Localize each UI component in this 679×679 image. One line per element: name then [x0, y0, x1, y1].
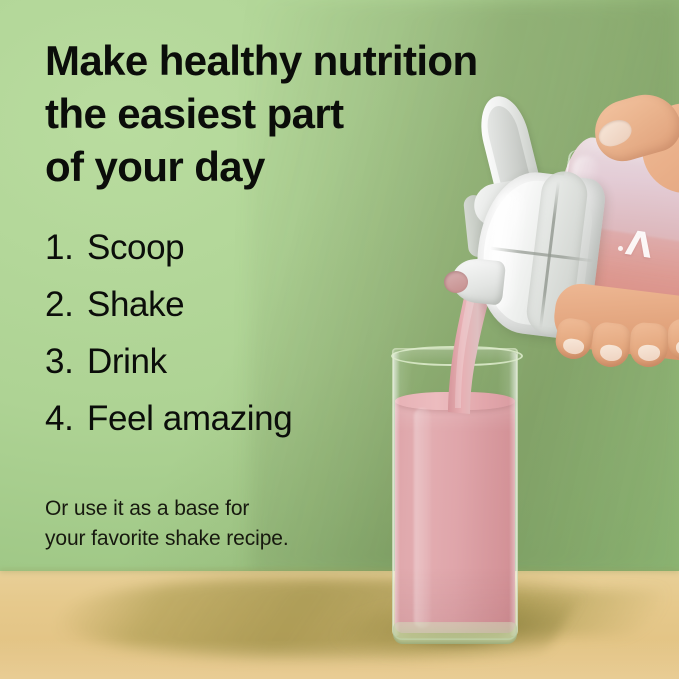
- list-item: 3. Drink: [45, 342, 465, 399]
- subtext-block: Or use it as a base for your favorite sh…: [45, 494, 375, 554]
- step-number: 1.: [45, 228, 87, 268]
- headline-line-3: of your day: [45, 140, 605, 193]
- bottle-logo-dot-icon: [618, 246, 623, 251]
- step-label: Drink: [87, 342, 167, 382]
- subtext-line-1: Or use it as a base for: [45, 494, 375, 524]
- step-label: Shake: [87, 285, 184, 325]
- headline-line-2: the easiest part: [45, 87, 605, 140]
- page-headline: Make healthy nutrition the easiest part …: [45, 34, 605, 193]
- step-number: 3.: [45, 342, 87, 382]
- steps-list: 1. Scoop 2. Shake 3. Drink 4. Feel amazi…: [45, 228, 465, 456]
- step-number: 4.: [45, 399, 87, 439]
- table-back-edge: [0, 569, 679, 574]
- ad-image-canvas: Λ Make healthy nutrition the easiest par…: [0, 0, 679, 679]
- subtext-line-2: your favorite shake recipe.: [45, 524, 375, 554]
- list-item: 4. Feel amazing: [45, 399, 465, 456]
- headline-line-1: Make healthy nutrition: [45, 34, 605, 87]
- step-number: 2.: [45, 285, 87, 325]
- list-item: 2. Shake: [45, 285, 465, 342]
- step-label: Scoop: [87, 228, 184, 268]
- glass-base: [393, 622, 517, 644]
- step-label: Feel amazing: [87, 399, 292, 439]
- list-item: 1. Scoop: [45, 228, 465, 285]
- table-foreground-gloss: [0, 640, 679, 679]
